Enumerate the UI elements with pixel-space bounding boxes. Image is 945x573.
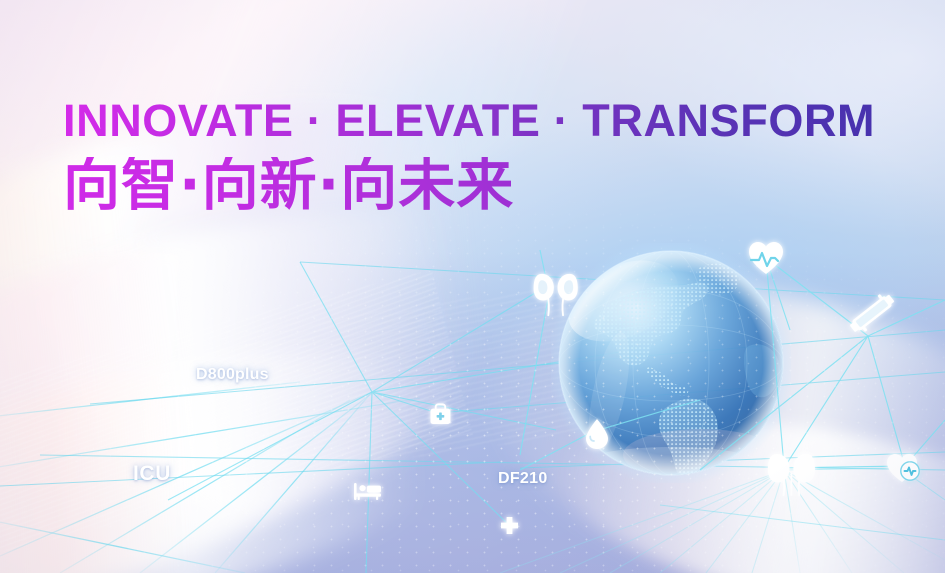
product-label-df210: DF210 bbox=[498, 470, 548, 488]
product-label-icu: ICU bbox=[133, 462, 171, 486]
headline-block: INNOVATE · ELEVATE · TRANSFORM 向智·向新·向未来 bbox=[63, 98, 875, 214]
background-lavender-field bbox=[0, 0, 945, 573]
banner-canvas: INNOVATE · ELEVATE · TRANSFORM 向智·向新·向未来… bbox=[0, 0, 945, 573]
globe-graphic bbox=[551, 243, 791, 483]
product-label-d800plus: D800plus bbox=[196, 366, 269, 384]
headline-english: INNOVATE · ELEVATE · TRANSFORM bbox=[63, 98, 875, 143]
headline-chinese: 向智·向新·向未来 bbox=[63, 157, 875, 214]
